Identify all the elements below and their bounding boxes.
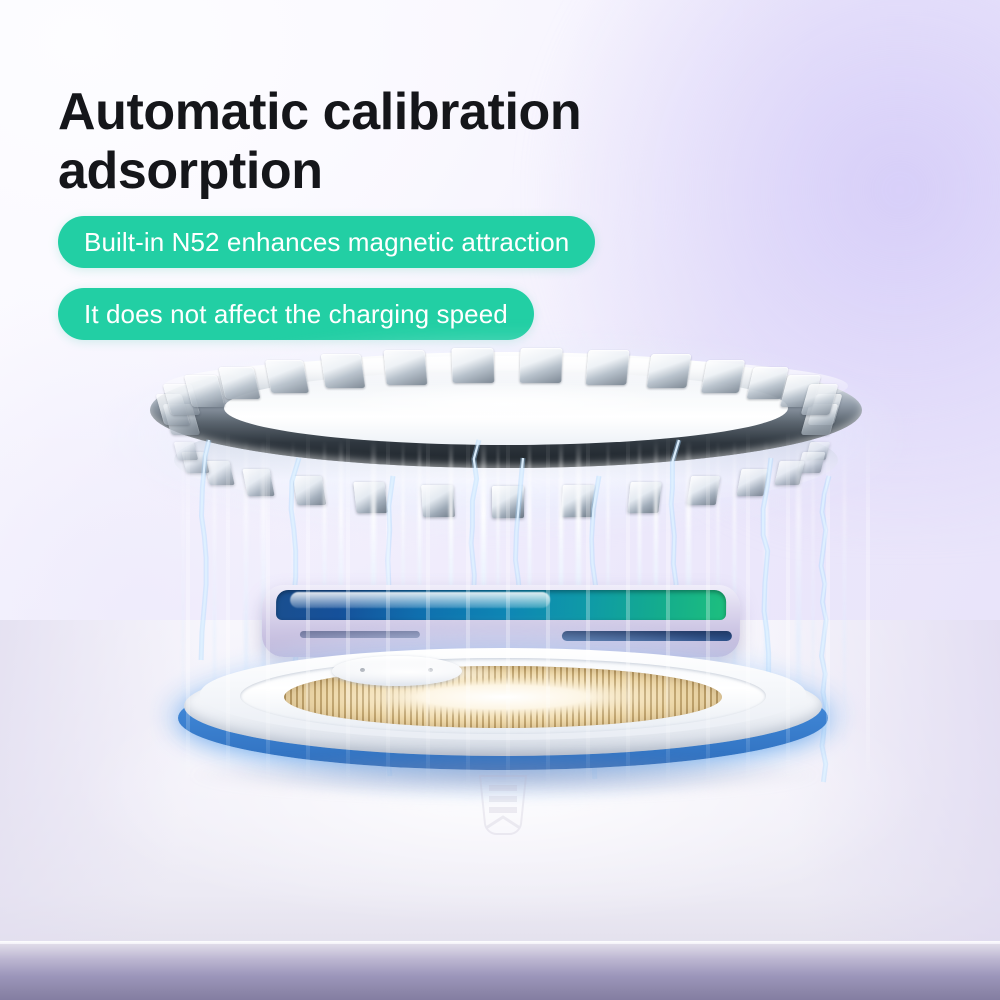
headline-line-2: adsorption [58, 142, 778, 201]
magnet-ring-segment [647, 354, 692, 388]
page-title: Automatic calibration adsorption [58, 83, 778, 201]
headline-line-1: Automatic calibration [58, 83, 778, 142]
magnet-ring-segment [520, 348, 563, 383]
feature-badge-magnetic: Built-in N52 enhances magnetic attractio… [58, 216, 595, 268]
magnet-ring-segment [585, 350, 629, 385]
desk-front-face [0, 944, 1000, 1000]
product-feature-banner: Automatic calibration adsorption Built-i… [0, 0, 1000, 1000]
magnet-ring-segment [701, 360, 745, 393]
magnet-ring-segment [451, 348, 494, 383]
light-streak-overlay [150, 430, 870, 790]
embossed-brand-watermark-icon [470, 772, 536, 846]
feature-badge-charging-speed: It does not affect the charging speed [58, 288, 534, 340]
magnet-ring-segment [384, 350, 428, 385]
magnet-ring-segment [321, 354, 366, 388]
magnet-ring-segment [265, 360, 309, 393]
magnet-ring-specular [340, 382, 670, 426]
feature-badge-magnetic-label: Built-in N52 enhances magnetic attractio… [84, 227, 569, 258]
feature-badge-charging-speed-label: It does not affect the charging speed [84, 299, 508, 330]
